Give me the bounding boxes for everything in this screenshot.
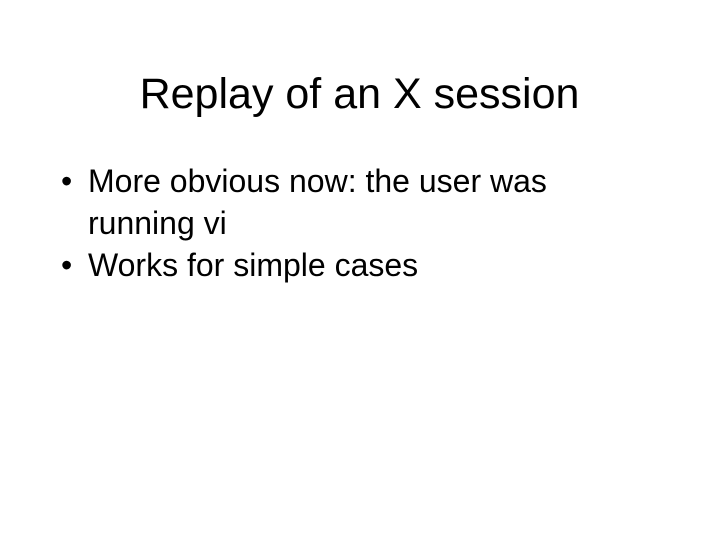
list-item-label: More obvious now: the user was running v…: [88, 160, 558, 244]
list-item: • More obvious now: the user was running…: [55, 160, 558, 244]
list-item: • Works for simple cases: [55, 244, 558, 286]
bullet-point-icon: •: [61, 244, 81, 286]
list-item-label: Works for simple cases: [88, 244, 558, 286]
page-title: Replay of an X session: [0, 70, 719, 118]
bullet-list: • More obvious now: the user was running…: [55, 160, 655, 286]
bullet-point-icon: •: [61, 160, 81, 202]
slide: Replay of an X session • More obvious no…: [0, 0, 719, 539]
